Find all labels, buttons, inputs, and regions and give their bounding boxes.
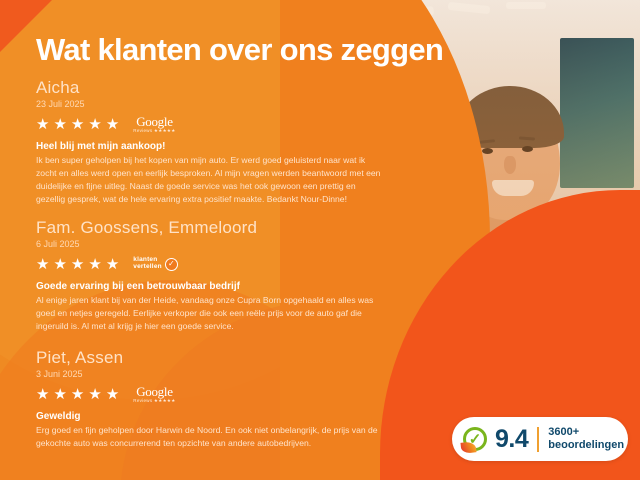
google-wordmark: Google [136, 385, 172, 398]
google-wordmark: Google [136, 115, 172, 128]
klantenvertellen-check-icon: ✓ [462, 426, 488, 452]
star-icon: ★ [88, 117, 101, 132]
review-meta: ★ ★ ★ ★ ★ Google Reviews ★★★★★ [36, 114, 386, 134]
google-reviews-logo: Google Reviews ★★★★★ [133, 115, 175, 134]
star-rating: ★ ★ ★ ★ ★ [36, 387, 119, 402]
star-icon: ★ [106, 117, 119, 132]
star-icon: ★ [106, 387, 119, 402]
reviewer-name: Fam. Goossens, Emmeloord [36, 218, 386, 238]
review-headline: Heel blij met mijn aankoop! [36, 141, 386, 152]
content-layer: Wat klanten over ons zeggen Aicha 23 Jul… [0, 0, 640, 480]
review-meta: ★ ★ ★ ★ ★ Google Reviews ★★★★★ [36, 384, 386, 404]
star-icon: ★ [71, 387, 84, 402]
rating-badge[interactable]: ✓ 9.4 3600+ beoordelingen [452, 417, 628, 461]
review-card: Piet, Assen 3 Juni 2025 ★ ★ ★ ★ ★ Google… [36, 348, 386, 450]
review-card: Fam. Goossens, Emmeloord 6 Juli 2025 ★ ★… [36, 218, 386, 333]
review-date: 6 Juli 2025 [36, 239, 386, 249]
review-headline: Goede ervaring bij een betrouwbaar bedri… [36, 281, 386, 292]
reviewer-name: Piet, Assen [36, 348, 386, 368]
star-icon: ★ [36, 257, 49, 272]
google-reviews-sublabel: Reviews ★★★★★ [133, 399, 175, 404]
klantenvertellen-line2: vertellen [133, 264, 162, 271]
review-body: Erg goed en fijn geholpen door Harwin de… [36, 424, 386, 450]
star-icon: ★ [53, 117, 66, 132]
reviewer-name: Aicha [36, 78, 386, 98]
star-icon: ★ [106, 257, 119, 272]
page-title: Wat klanten over ons zeggen [36, 32, 443, 68]
rating-count-block: 3600+ beoordelingen [548, 426, 624, 452]
star-icon: ★ [36, 387, 49, 402]
google-reviews-sublabel: Reviews ★★★★★ [133, 129, 175, 134]
review-headline: Geweldig [36, 411, 386, 422]
rating-divider [537, 427, 539, 452]
testimonials-banner: VDH Wat klanten over ons zeggen Aicha 23… [0, 0, 640, 480]
star-rating: ★ ★ ★ ★ ★ [36, 117, 119, 132]
star-icon: ★ [88, 257, 101, 272]
review-body: Ik ben super geholpen bij het kopen van … [36, 154, 386, 206]
review-date: 3 Juni 2025 [36, 369, 386, 379]
star-icon: ★ [71, 257, 84, 272]
star-icon: ★ [71, 117, 84, 132]
star-icon: ★ [53, 257, 66, 272]
review-date: 23 Juli 2025 [36, 99, 386, 109]
rating-score: 9.4 [495, 427, 528, 452]
check-icon: ✓ [166, 259, 177, 270]
star-rating: ★ ★ ★ ★ ★ [36, 257, 119, 272]
klantenvertellen-logo: klanten vertellen ✓ [133, 257, 178, 271]
klantenvertellen-wordmark: klanten vertellen [133, 257, 162, 271]
review-meta: ★ ★ ★ ★ ★ klanten vertellen ✓ [36, 254, 386, 274]
star-icon: ★ [53, 387, 66, 402]
check-circle-icon: ✓ [165, 258, 178, 271]
review-body: Al enige jaren klant bij van der Heide, … [36, 294, 386, 333]
review-card: Aicha 23 Juli 2025 ★ ★ ★ ★ ★ Google Revi… [36, 78, 386, 206]
star-icon: ★ [36, 117, 49, 132]
rating-count: 3600+ [548, 426, 624, 439]
google-reviews-logo: Google Reviews ★★★★★ [133, 385, 175, 404]
rating-count-label: beoordelingen [548, 439, 624, 452]
star-icon: ★ [88, 387, 101, 402]
